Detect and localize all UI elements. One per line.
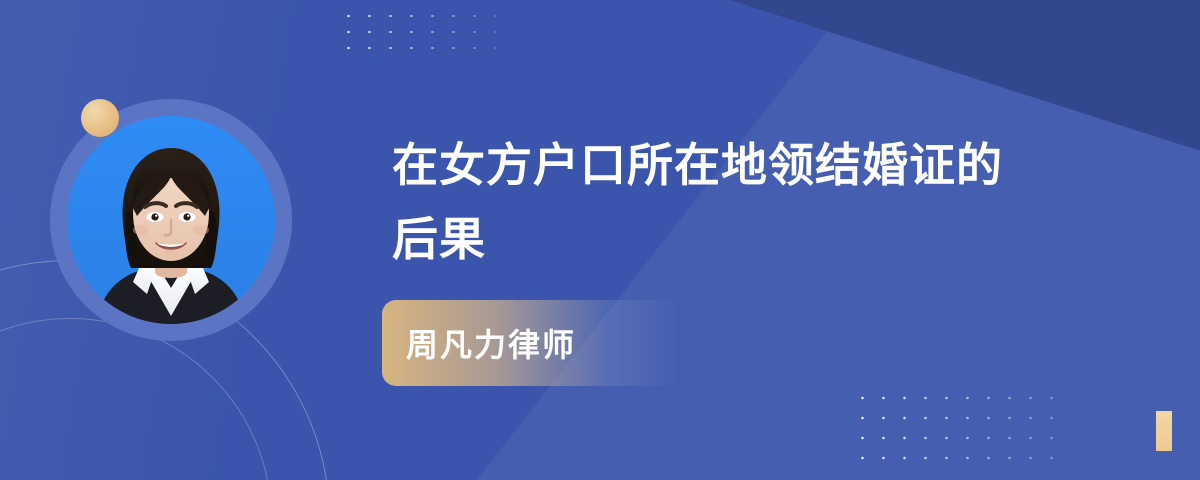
- page-title: 在女方户口所在地领结婚证的后果: [392, 128, 1012, 276]
- gold-bar-decoration: [1156, 411, 1172, 451]
- banner-content: 在女方户口所在地领结婚证的后果: [392, 128, 1092, 276]
- arc-inner: [0, 318, 272, 480]
- top-dot-grid-decoration: [338, 8, 496, 54]
- lawyer-article-banner: 在女方户口所在地领结婚证的后果 周凡力律师: [0, 0, 1200, 480]
- avatar: [50, 99, 292, 341]
- author-name-label: 周凡力律师: [382, 320, 576, 366]
- bottom-dot-grid-decoration: [852, 388, 1068, 468]
- avatar-photo: [67, 116, 275, 324]
- author-badge: 周凡力律师: [382, 300, 680, 386]
